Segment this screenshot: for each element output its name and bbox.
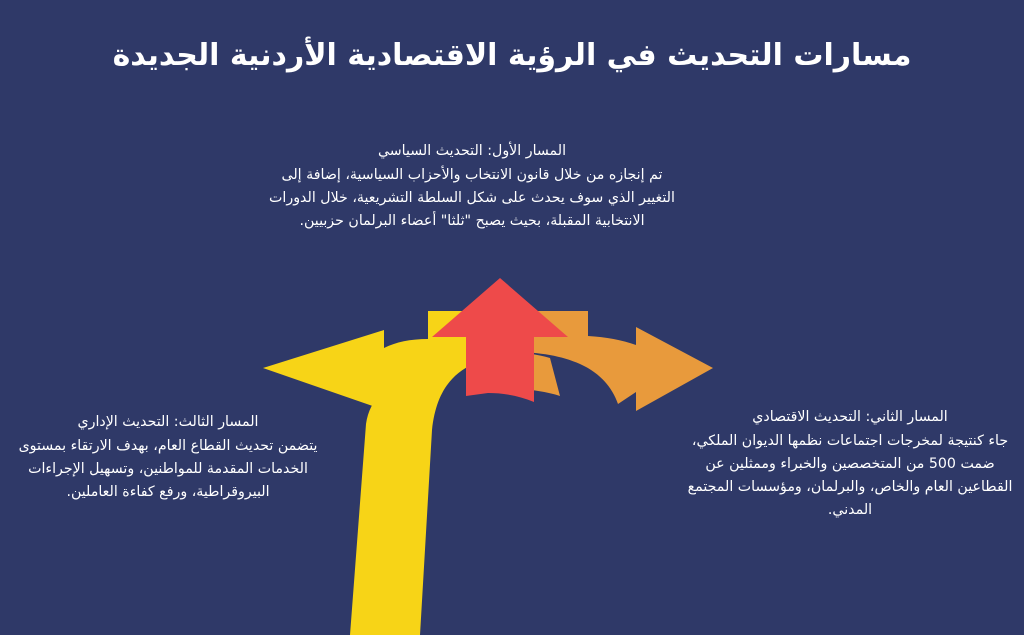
arrow-center-red-foot — [466, 380, 534, 402]
track-political-body: تم إنجازه من خلال قانون الانتخاب والأحزا… — [262, 164, 682, 233]
infographic-canvas: مسارات التحديث في الرؤية الاقتصادية الأر… — [0, 0, 1024, 635]
track-economic-body: جاء كنتيجة لمخرجات اجتماعات نظمها الديوا… — [676, 430, 1024, 522]
track-political: المسار الأول: التحديث السياسي تم إنجازه … — [262, 140, 682, 233]
track-administrative: المسار الثالث: التحديث الإداري يتضمن تحد… — [8, 411, 328, 504]
page-title: مسارات التحديث في الرؤية الاقتصادية الأر… — [0, 36, 1024, 77]
track-economic: المسار الثاني: التحديث الاقتصادي جاء كنت… — [676, 406, 1024, 522]
track-economic-heading: المسار الثاني: التحديث الاقتصادي — [676, 406, 1024, 429]
track-administrative-heading: المسار الثالث: التحديث الإداري — [8, 411, 328, 434]
track-administrative-body: يتضمن تحديث القطاع العام، بهدف الارتقاء … — [8, 435, 328, 504]
track-political-heading: المسار الأول: التحديث السياسي — [262, 140, 682, 163]
three-way-arrow-diagram — [0, 0, 1024, 635]
arrow-right-orange-junction — [505, 352, 560, 396]
arrow-center-red — [432, 278, 568, 400]
arrow-right-orange — [512, 311, 713, 411]
